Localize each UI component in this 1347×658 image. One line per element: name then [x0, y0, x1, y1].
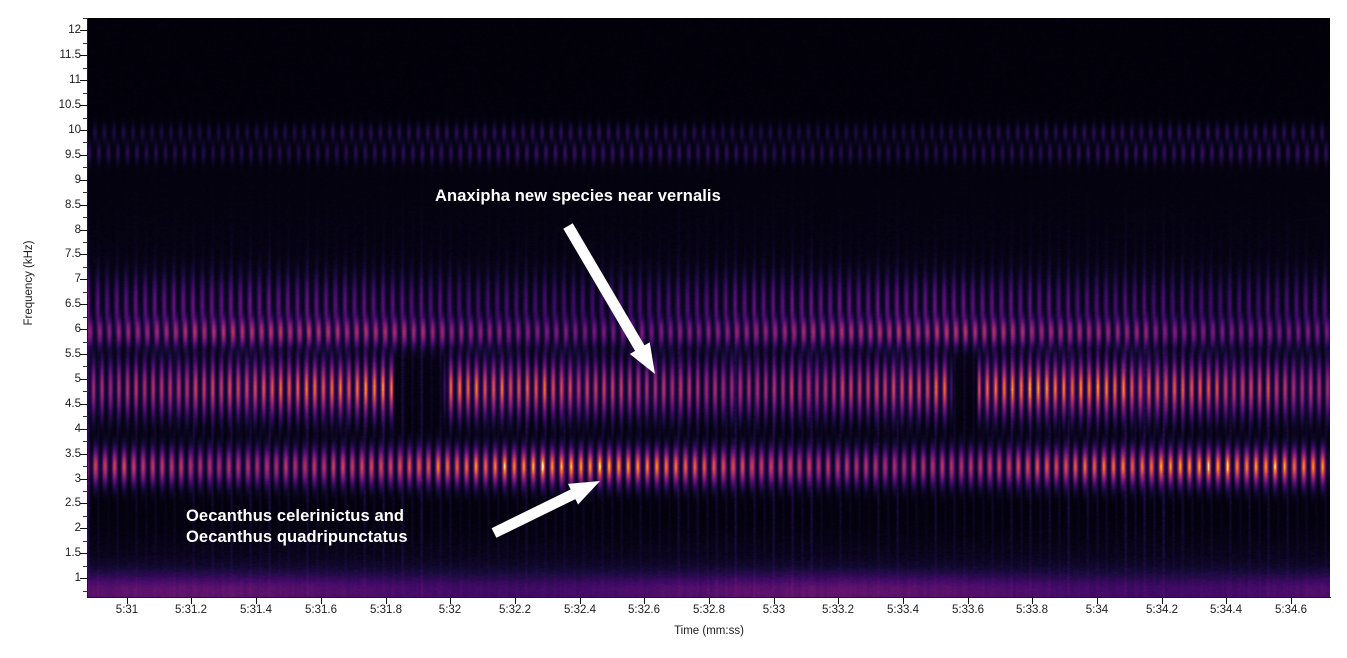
y-tick-label: 10: [68, 124, 81, 136]
x-tick-mark: [968, 597, 969, 604]
y-tick-mark: [80, 279, 88, 280]
y-tick-mark-minor: [83, 192, 88, 193]
x-tick-label: 5:34.6: [1275, 604, 1307, 616]
x-tick-label: 5:31.6: [305, 604, 337, 616]
y-tick-mark-minor: [83, 541, 88, 542]
y-tick-label: 4.5: [65, 398, 81, 410]
x-tick-label: 5:31.8: [370, 604, 402, 616]
x-tick-label: 5:33: [763, 604, 785, 616]
y-tick-label: 6.5: [65, 298, 81, 310]
x-tick-mark: [386, 597, 387, 604]
y-tick-label: 1.5: [65, 547, 81, 559]
y-tick-label: 10.5: [59, 99, 81, 111]
y-tick-label: 4: [75, 423, 81, 435]
x-axis-title: Time (mm:ss): [88, 625, 1330, 637]
y-tick-label: 6: [75, 323, 81, 335]
y-tick-mark: [80, 454, 88, 455]
y-tick-mark: [80, 404, 88, 405]
y-tick-mark-minor: [83, 68, 88, 69]
y-tick-mark-minor: [83, 317, 88, 318]
y-tick-mark-minor: [83, 366, 88, 367]
y-tick-label: 3.5: [65, 448, 81, 460]
y-tick-mark: [80, 230, 88, 231]
x-tick-mark: [321, 597, 322, 604]
y-tick-mark: [80, 105, 88, 106]
y-tick-label: 8.5: [65, 199, 81, 211]
y-tick-label: 9.5: [65, 149, 81, 161]
y-tick-label: 5.5: [65, 348, 81, 360]
x-tick-mark: [644, 597, 645, 604]
y-tick-label: 2.5: [65, 497, 81, 509]
x-tick-label: 5:32.2: [499, 604, 531, 616]
x-tick-label: 5:33.6: [952, 604, 984, 616]
y-tick-label: 11.5: [59, 49, 81, 61]
x-tick-label: 5:34: [1086, 604, 1108, 616]
y-tick-mark-minor: [83, 267, 88, 268]
y-tick-mark-minor: [83, 441, 88, 442]
y-tick-mark: [80, 528, 88, 529]
y-tick-label: 7: [75, 273, 81, 285]
y-tick-mark: [80, 503, 88, 504]
x-tick-mark: [1032, 597, 1033, 604]
y-tick-mark: [80, 254, 88, 255]
spectrogram-plot-area: [88, 18, 1330, 597]
x-tick-label: 5:31.4: [240, 604, 272, 616]
x-tick-label: 5:32.4: [564, 604, 596, 616]
x-tick-mark: [903, 597, 904, 604]
y-tick-mark: [80, 30, 88, 31]
x-tick-mark: [1226, 597, 1227, 604]
y-tick-mark: [80, 130, 88, 131]
x-tick-label: 5:32: [439, 604, 461, 616]
spectrogram-figure: 1211.51110.5109.598.587.576.565.554.543.…: [0, 0, 1347, 658]
y-tick-mark-minor: [83, 118, 88, 119]
x-tick-mark: [1291, 597, 1292, 604]
y-tick-mark: [80, 429, 88, 430]
x-tick-label: 5:31: [116, 604, 138, 616]
y-axis-title: Frequency (kHz): [23, 213, 35, 353]
y-tick-mark: [80, 329, 88, 330]
x-tick-mark: [838, 597, 839, 604]
y-tick-mark: [80, 553, 88, 554]
y-tick-mark: [80, 205, 88, 206]
y-tick-mark-minor: [83, 466, 88, 467]
y-tick-mark: [80, 155, 88, 156]
y-tick-mark-minor: [83, 167, 88, 168]
x-tick-mark: [127, 597, 128, 604]
x-tick-label: 5:33.4: [887, 604, 919, 616]
x-tick-mark: [256, 597, 257, 604]
y-tick-mark-minor: [83, 242, 88, 243]
y-tick-mark-minor: [83, 217, 88, 218]
y-tick-label: 5: [75, 373, 81, 385]
y-tick-mark: [80, 180, 88, 181]
x-tick-label: 5:33.2: [822, 604, 854, 616]
y-tick-label: 7.5: [65, 248, 81, 260]
spectrogram-image: [88, 18, 1330, 597]
y-tick-mark-minor: [83, 292, 88, 293]
y-tick-mark: [80, 578, 88, 579]
y-tick-label: 8: [75, 224, 81, 236]
y-tick-label: 1: [75, 572, 81, 584]
y-tick-mark-minor: [83, 416, 88, 417]
x-tick-mark: [515, 597, 516, 604]
y-tick-mark-minor: [83, 93, 88, 94]
y-tick-mark: [80, 304, 88, 305]
y-tick-mark-minor: [83, 43, 88, 44]
y-tick-mark-minor: [83, 142, 88, 143]
x-tick-mark: [191, 597, 192, 604]
x-tick-mark: [1162, 597, 1163, 604]
x-tick-mark: [580, 597, 581, 604]
x-tick-label: 5:33.8: [1016, 604, 1048, 616]
x-tick-label: 5:32.8: [693, 604, 725, 616]
x-tick-label: 5:34.2: [1146, 604, 1178, 616]
y-tick-mark: [80, 379, 88, 380]
y-tick-label: 11: [69, 74, 81, 86]
x-tick-mark: [709, 597, 710, 604]
x-tick-mark: [450, 597, 451, 604]
x-tick-mark: [1097, 597, 1098, 604]
y-tick-mark-minor: [83, 566, 88, 567]
y-tick-label: 9: [75, 174, 81, 186]
x-tick-label: 5:32.6: [628, 604, 660, 616]
y-tick-mark: [80, 479, 88, 480]
y-tick-mark-minor: [83, 342, 88, 343]
y-tick-mark: [80, 80, 88, 81]
y-tick-label: 12: [68, 24, 81, 36]
y-tick-mark-minor: [83, 491, 88, 492]
y-tick-label: 2: [75, 522, 81, 534]
y-tick-mark: [80, 55, 88, 56]
y-tick-mark-minor: [83, 18, 88, 19]
x-tick-mark: [774, 597, 775, 604]
y-tick-mark-minor: [83, 516, 88, 517]
y-tick-mark-minor: [83, 591, 88, 592]
x-tick-label: 5:31.2: [175, 604, 207, 616]
x-tick-label: 5:34.4: [1210, 604, 1242, 616]
y-tick-mark-minor: [83, 391, 88, 392]
y-tick-mark: [80, 354, 88, 355]
y-tick-label: 3: [75, 473, 81, 485]
